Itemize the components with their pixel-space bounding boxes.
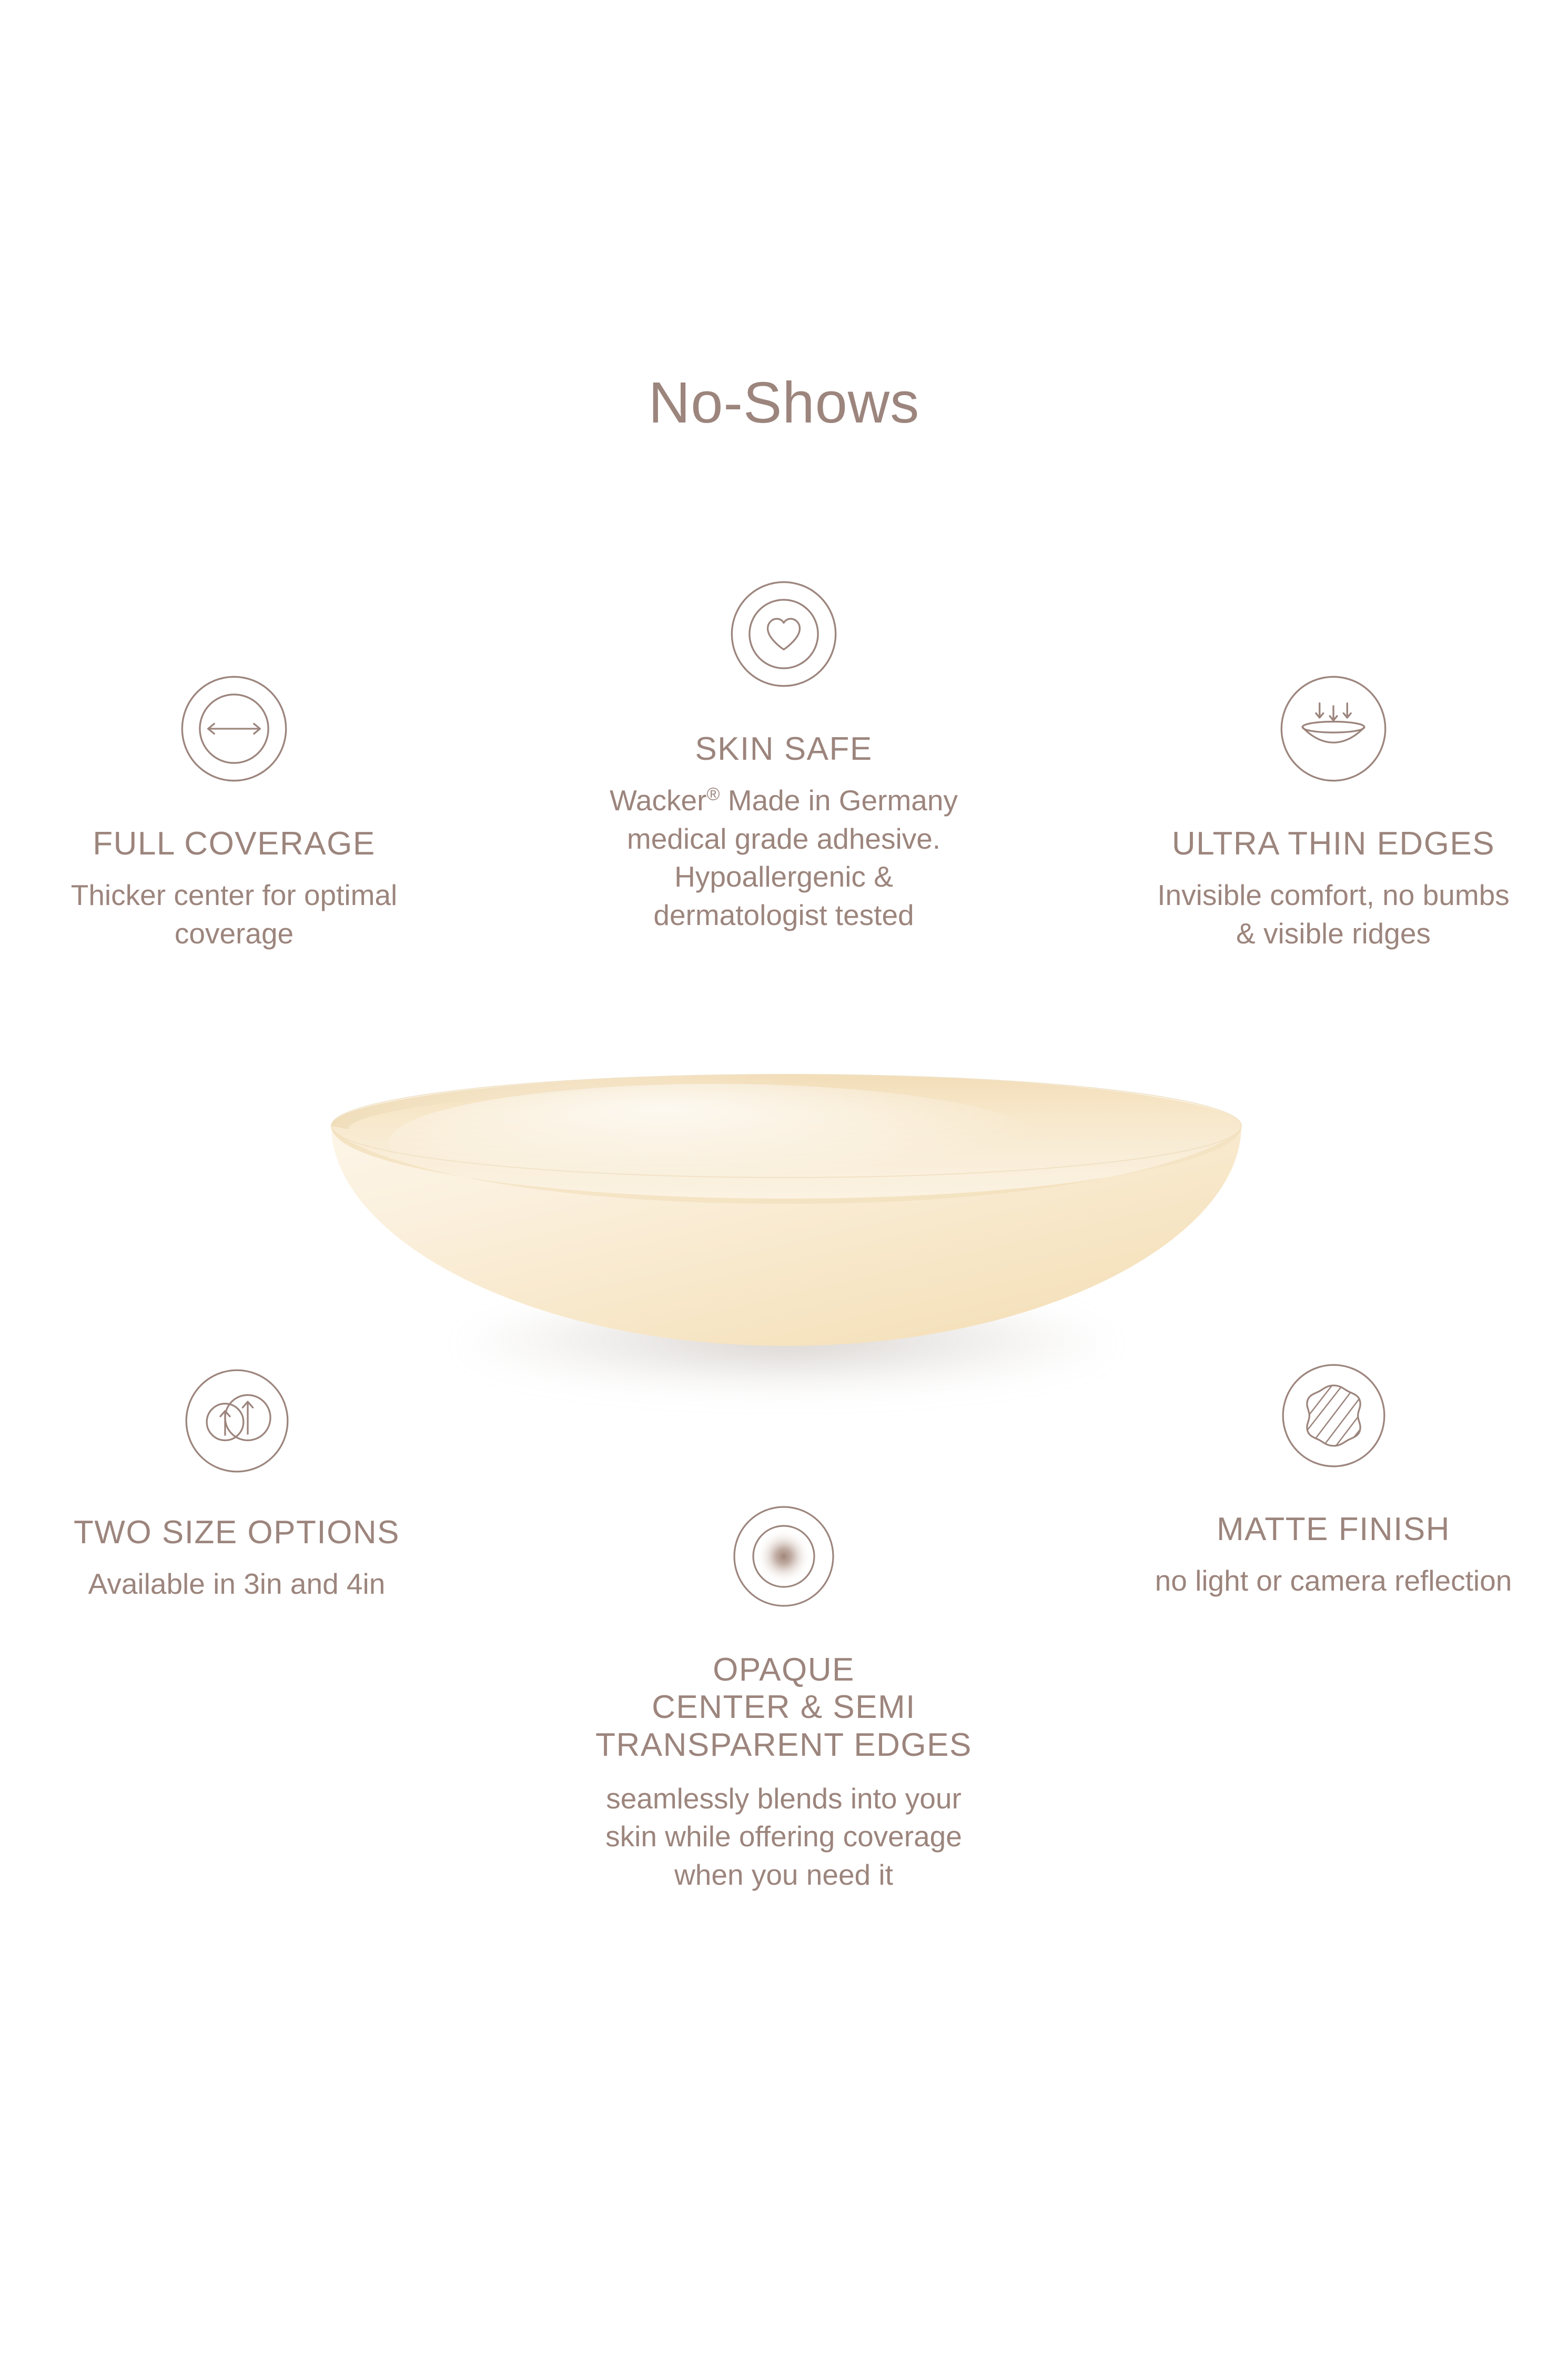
feature-description: no light or camera reflection (1115, 1562, 1552, 1600)
product-image (316, 1063, 1257, 1358)
feature-opaque-center: OPAQUE CENTER & SEMI TRANSPARENT EDGES s… (547, 1504, 1020, 1894)
feature-title: ULTRA THIN EDGES (1126, 825, 1541, 862)
feature-two-size-options: TWO SIZE OPTIONS Available in 3in and 4i… (32, 1367, 442, 1603)
feature-title: MATTE FINISH (1115, 1511, 1552, 1548)
concentric-blur-dot-icon (731, 1504, 836, 1609)
silicone-nipple-cover-illustration (316, 1063, 1257, 1358)
icon-wrap (32, 673, 437, 784)
icon-wrap (547, 1504, 1020, 1609)
feature-title: TWO SIZE OPTIONS (32, 1514, 442, 1551)
feature-full-coverage: FULL COVERAGE Thicker center for optimal… (32, 673, 437, 952)
feature-description: Invisible comfort, no bumbs & visible ri… (1126, 876, 1541, 952)
icon-wrap (558, 579, 1010, 689)
feature-title: SKIN SAFE (558, 730, 1010, 768)
brand-name: Wacker (610, 784, 706, 817)
icon-wrap (32, 1367, 442, 1475)
hatched-blob-icon (1280, 1362, 1388, 1470)
registered-mark-icon: ® (706, 785, 720, 805)
feature-matte-finish: MATTE FINISH no light or camera reflecti… (1115, 1362, 1552, 1600)
circle-width-arrow-icon (179, 673, 289, 784)
feature-description: Available in 3in and 4in (32, 1565, 442, 1603)
page-title: No-Shows (0, 371, 1568, 435)
icon-wrap (1115, 1362, 1552, 1470)
feature-description: seamlessly blends into your skin while o… (547, 1779, 1020, 1894)
feature-ultra-thin-edges: ULTRA THIN EDGES Invisible comfort, no b… (1126, 673, 1541, 952)
heart-in-circle-icon (729, 579, 839, 689)
two-circles-up-arrows-icon (183, 1367, 291, 1475)
feature-title: OPAQUE CENTER & SEMI TRANSPARENT EDGES (547, 1651, 1020, 1764)
feature-title: FULL COVERAGE (32, 825, 437, 862)
icon-wrap (1126, 673, 1541, 784)
feature-description: Wacker® Made in Germany medical grade ad… (558, 781, 1010, 934)
feature-description: Thicker center for optimal coverage (32, 876, 437, 952)
down-arrows-lens-icon (1278, 673, 1389, 784)
feature-skin-safe: SKIN SAFE Wacker® Made in Germany medica… (558, 579, 1010, 934)
